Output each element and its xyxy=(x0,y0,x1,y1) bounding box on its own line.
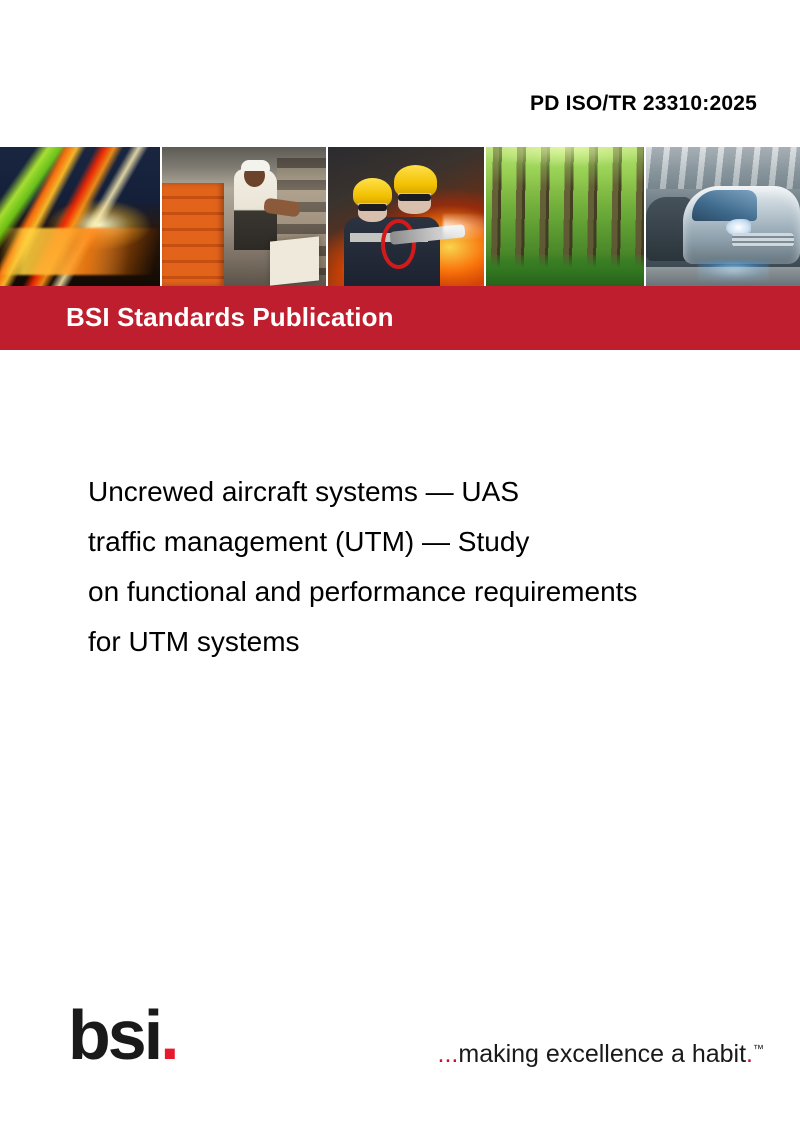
water-spray xyxy=(443,214,484,239)
firefighter-visor-right xyxy=(398,194,431,201)
banner-label: BSI Standards Publication xyxy=(66,302,394,333)
tagline-period: . xyxy=(746,1040,753,1068)
photo-car-production-line xyxy=(644,147,800,286)
bsi-logo-wordmark: bsi xyxy=(68,996,160,1074)
warehouse-worker-cap xyxy=(241,160,271,171)
warehouse-crate-stack xyxy=(162,183,224,286)
car-grille xyxy=(732,233,794,247)
forest-canopy-light xyxy=(486,147,644,197)
photo-forest xyxy=(484,147,644,286)
bsi-tagline: ...making excellence a habit.™ xyxy=(438,1040,764,1069)
tagline-ellipsis: ... xyxy=(438,1040,459,1068)
factory-floor xyxy=(646,267,800,286)
trademark-icon: ™ xyxy=(753,1044,764,1056)
forest-floor xyxy=(486,255,644,286)
warehouse-box xyxy=(270,236,319,286)
factory-roof-beams xyxy=(646,147,800,189)
title-line-1: Uncrewed aircraft systems — UAS xyxy=(88,467,753,517)
bsi-logo: bsi. xyxy=(68,1000,180,1070)
cover-footer: bsi. ...making excellence a habit.™ xyxy=(0,992,800,1132)
bsi-logo-dot: . xyxy=(160,996,179,1074)
firefighter-visor-left xyxy=(358,204,388,211)
car-windshield xyxy=(692,190,757,221)
photo-warehouse-worker xyxy=(160,147,326,286)
title-line-2: traffic management (UTM) — Study xyxy=(88,517,753,567)
cover-banner: BSI Standards Publication xyxy=(0,147,800,350)
photo-night-traffic-light-trails xyxy=(0,147,160,286)
tagline-text: making excellence a habit xyxy=(458,1040,746,1068)
fire-hose-hoop xyxy=(381,219,416,269)
document-reference-number: PD ISO/TR 23310:2025 xyxy=(530,92,757,116)
title-line-4: for UTM systems xyxy=(88,617,753,667)
red-banner-bar: BSI Standards Publication xyxy=(0,286,800,350)
photo-strip xyxy=(0,147,800,286)
document-title: Uncrewed aircraft systems — UAS traffic … xyxy=(88,467,753,667)
title-line-3: on functional and performance requiremen… xyxy=(88,567,753,617)
photo-firefighters xyxy=(326,147,484,286)
